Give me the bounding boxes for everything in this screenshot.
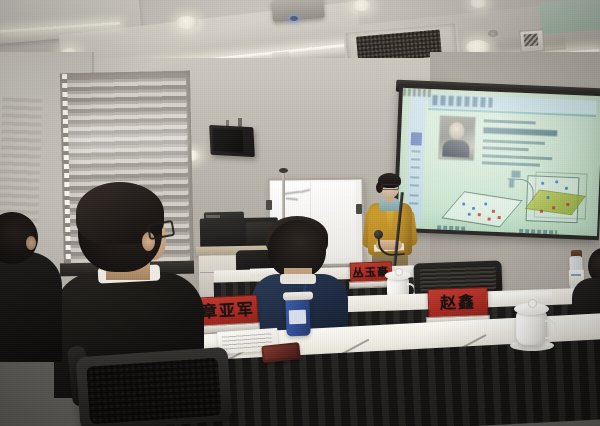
- coffee-cup-lid: [283, 291, 313, 300]
- chair-mesh-back: [86, 357, 222, 424]
- wall-speaker-grille: [212, 128, 243, 153]
- coffee-cup-label: [289, 310, 306, 325]
- name-placard-zhao-text: 赵鑫: [440, 295, 476, 312]
- bottle-label-text: [571, 274, 581, 276]
- name-placard-cong-text: 丛玉豪: [352, 267, 389, 279]
- presenter-glasses: [381, 184, 399, 190]
- whiteboard-clip: [266, 200, 272, 210]
- screen-glare: [397, 88, 600, 236]
- equipment-pole-cap: [279, 168, 288, 173]
- ceiling-reflection: [539, 0, 600, 35]
- teacup-body: [516, 311, 547, 345]
- microphone-head-icon[interactable]: [374, 230, 383, 239]
- blind-daylight-glow: [65, 99, 189, 182]
- attendee-far-left-ear: [26, 236, 36, 250]
- teacup-knob: [395, 268, 403, 276]
- recessed-downlight: [176, 16, 198, 29]
- name-placard-zhang-text: 章亚军: [201, 303, 256, 322]
- whiteboard-clip: [356, 204, 362, 214]
- recessed-downlight: [352, 0, 372, 11]
- ceiling-access-grille: [524, 34, 539, 47]
- ceiling-speaker: [488, 30, 498, 37]
- attendee-blue-shirt-collar: [280, 274, 316, 284]
- teacup-knob: [528, 299, 537, 308]
- attendee-far-left-body: [0, 252, 62, 362]
- projector-lens-icon: [290, 16, 298, 21]
- seminar-room-photo: 丛玉豪 赵鑫 章亚军: [0, 0, 600, 426]
